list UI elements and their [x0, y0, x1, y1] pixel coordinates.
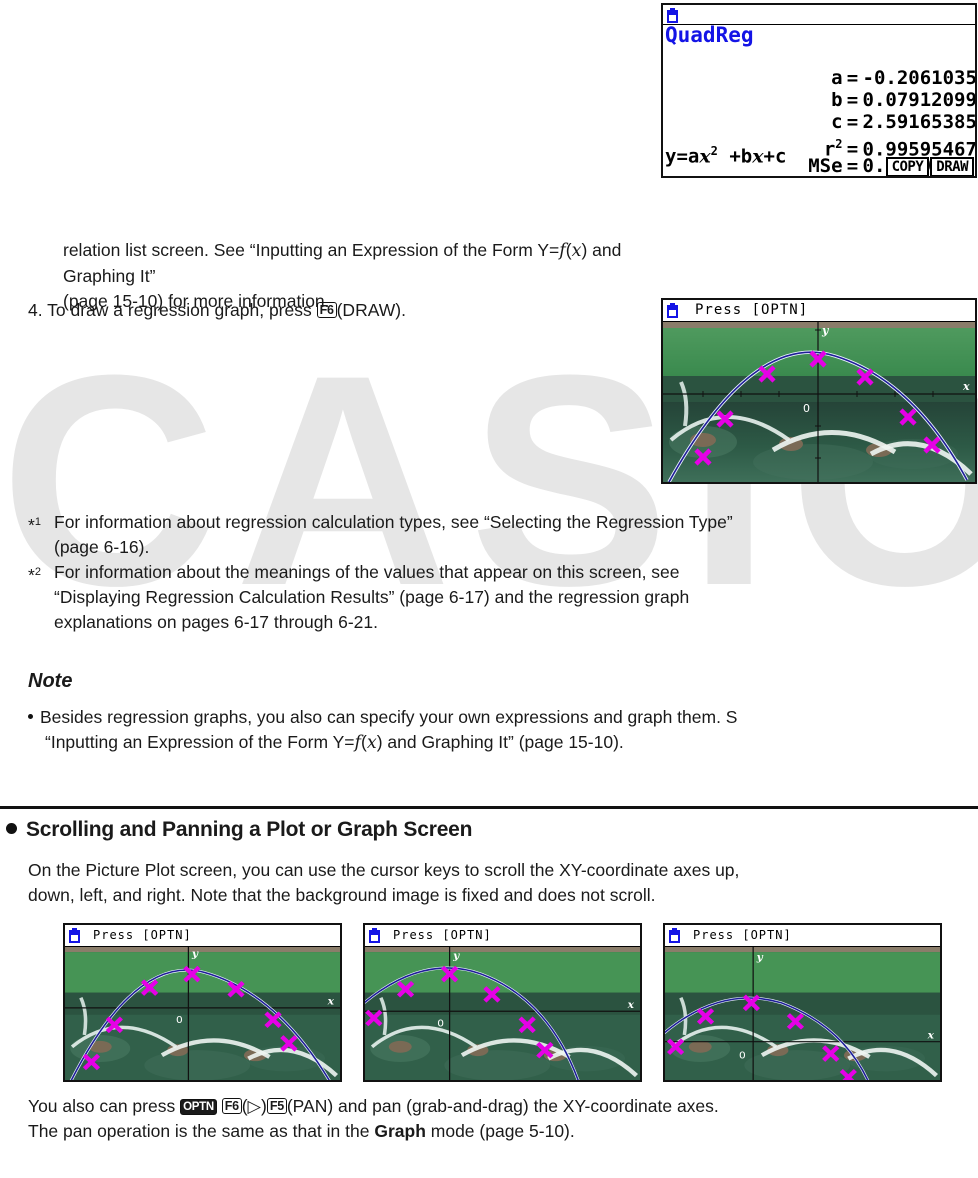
quadreg-equation: y=ax2 +bx+c: [665, 142, 786, 166]
picture-plot-screen-scroll-3: Press [OPTN]: [663, 923, 942, 1082]
svg-text:x: x: [327, 996, 335, 1008]
picture-plot-screen-scroll-1: Press [OPTN]: [63, 923, 342, 1082]
footnote-2: *2 For information about the meanings of…: [28, 560, 928, 635]
graph-mode-label: Graph: [374, 1121, 426, 1141]
section-divider: [0, 806, 978, 809]
svg-text:x: x: [962, 380, 970, 393]
function-key-bar: COPY DRAW: [886, 157, 974, 177]
function-f-italic: f: [355, 733, 361, 753]
key-f6-icon: F6: [222, 1098, 242, 1114]
paragraph-line-1: relation list screen. See “Inputting an …: [63, 238, 683, 289]
right-arrow-icon: (▷): [242, 1096, 267, 1116]
section-intro-line-1: On the Picture Plot screen, you can use …: [28, 858, 958, 883]
step-4-text-a: To draw a regression graph, press: [47, 300, 312, 320]
battery-icon: [369, 928, 380, 943]
variable-x-italic: x: [367, 733, 377, 753]
svg-text:y: y: [191, 948, 199, 960]
status-press-optn: Press [OPTN]: [393, 928, 492, 942]
closing-line-1: You also can press OPTN F6(▷)F5(PAN) and…: [28, 1094, 968, 1119]
fountain-photo-background: y x 0: [665, 947, 940, 1080]
svg-text:x: x: [627, 999, 635, 1011]
section-intro: On the Picture Plot screen, you can use …: [28, 858, 958, 908]
closing-paragraph: You also can press OPTN F6(▷)F5(PAN) and…: [28, 1094, 968, 1144]
svg-text:0: 0: [803, 402, 810, 415]
svg-text:0: 0: [739, 1050, 746, 1062]
status-press-optn: Press [OPTN]: [695, 302, 808, 318]
plot-overlay: y x 0: [65, 947, 340, 1080]
footnote-1: *1 For information about regression calc…: [28, 510, 928, 560]
quadreg-result-screen: QuadReg a=-0.2061035 b=0.07912099 c=2.59…: [661, 3, 977, 178]
plot-overlay: y x 0: [365, 947, 640, 1080]
picture-plot-screen-main: Press [OPTN]: [661, 298, 977, 484]
closing-line-2: The pan operation is the same as that in…: [28, 1119, 968, 1144]
calc-status-bar: Press [OPTN]: [365, 925, 640, 947]
battery-icon: [667, 303, 678, 318]
footnote-1-body: For information about regression calcula…: [54, 510, 928, 560]
status-press-optn: Press [OPTN]: [693, 928, 792, 942]
note-heading: Note: [28, 670, 72, 693]
step-4-text-b: (DRAW).: [337, 300, 406, 320]
section-intro-line-2: down, left, and right. Note that the bac…: [28, 883, 958, 908]
battery-icon: [669, 928, 680, 943]
fountain-photo-background: y x 0: [65, 947, 340, 1080]
plot-overlay: y x 0: [665, 947, 940, 1080]
step-4: 4. To draw a regression graph, press F6(…: [28, 298, 628, 323]
fountain-photo-background: y x 0: [663, 322, 975, 482]
footnote-1-mark: *1: [28, 510, 54, 538]
quadreg-title: QuadReg: [665, 26, 754, 45]
note-bullet-line-2: “Inputting an Expression of the Form Y=f…: [45, 730, 948, 756]
status-press-optn: Press [OPTN]: [93, 928, 192, 942]
plot-overlay: y x 0: [663, 322, 975, 482]
footnote-2-mark: *2: [28, 560, 54, 588]
bullet-icon: [28, 714, 33, 719]
fountain-photo-background: y x 0: [365, 947, 640, 1080]
note-bullet: Besides regression graphs, you also can …: [28, 705, 948, 756]
calc-status-bar: [663, 5, 975, 25]
svg-text:y: y: [756, 952, 764, 964]
variable-x-italic: x: [572, 241, 582, 261]
picture-plot-screen-scroll-2: Press [OPTN]: [363, 923, 642, 1082]
svg-text:0: 0: [176, 1014, 183, 1026]
calc-status-bar: Press [OPTN]: [65, 925, 340, 947]
battery-icon: [69, 928, 80, 943]
section-heading: Scrolling and Panning a Plot or Graph Sc…: [6, 818, 472, 842]
svg-text:y: y: [452, 950, 460, 962]
key-optn-icon: OPTN: [180, 1099, 217, 1115]
key-f6-icon: F6: [317, 302, 337, 318]
calc-status-bar: Press [OPTN]: [663, 300, 975, 322]
quadreg-body: QuadReg a=-0.2061035 b=0.07912099 c=2.59…: [663, 25, 975, 178]
svg-text:0: 0: [437, 1018, 444, 1030]
svg-text:x: x: [927, 1030, 935, 1042]
key-f5-icon: F5: [267, 1098, 287, 1114]
section-bullet-icon: [6, 823, 17, 834]
battery-icon: [667, 8, 678, 23]
note-bullet-line-1: Besides regression graphs, you also can …: [28, 705, 948, 730]
step-4-number: 4.: [28, 300, 43, 320]
fkey-copy-button[interactable]: COPY: [886, 157, 930, 177]
calc-status-bar: Press [OPTN]: [665, 925, 940, 947]
footnote-2-body: For information about the meanings of th…: [54, 560, 928, 635]
fkey-draw-button[interactable]: DRAW: [930, 157, 974, 177]
